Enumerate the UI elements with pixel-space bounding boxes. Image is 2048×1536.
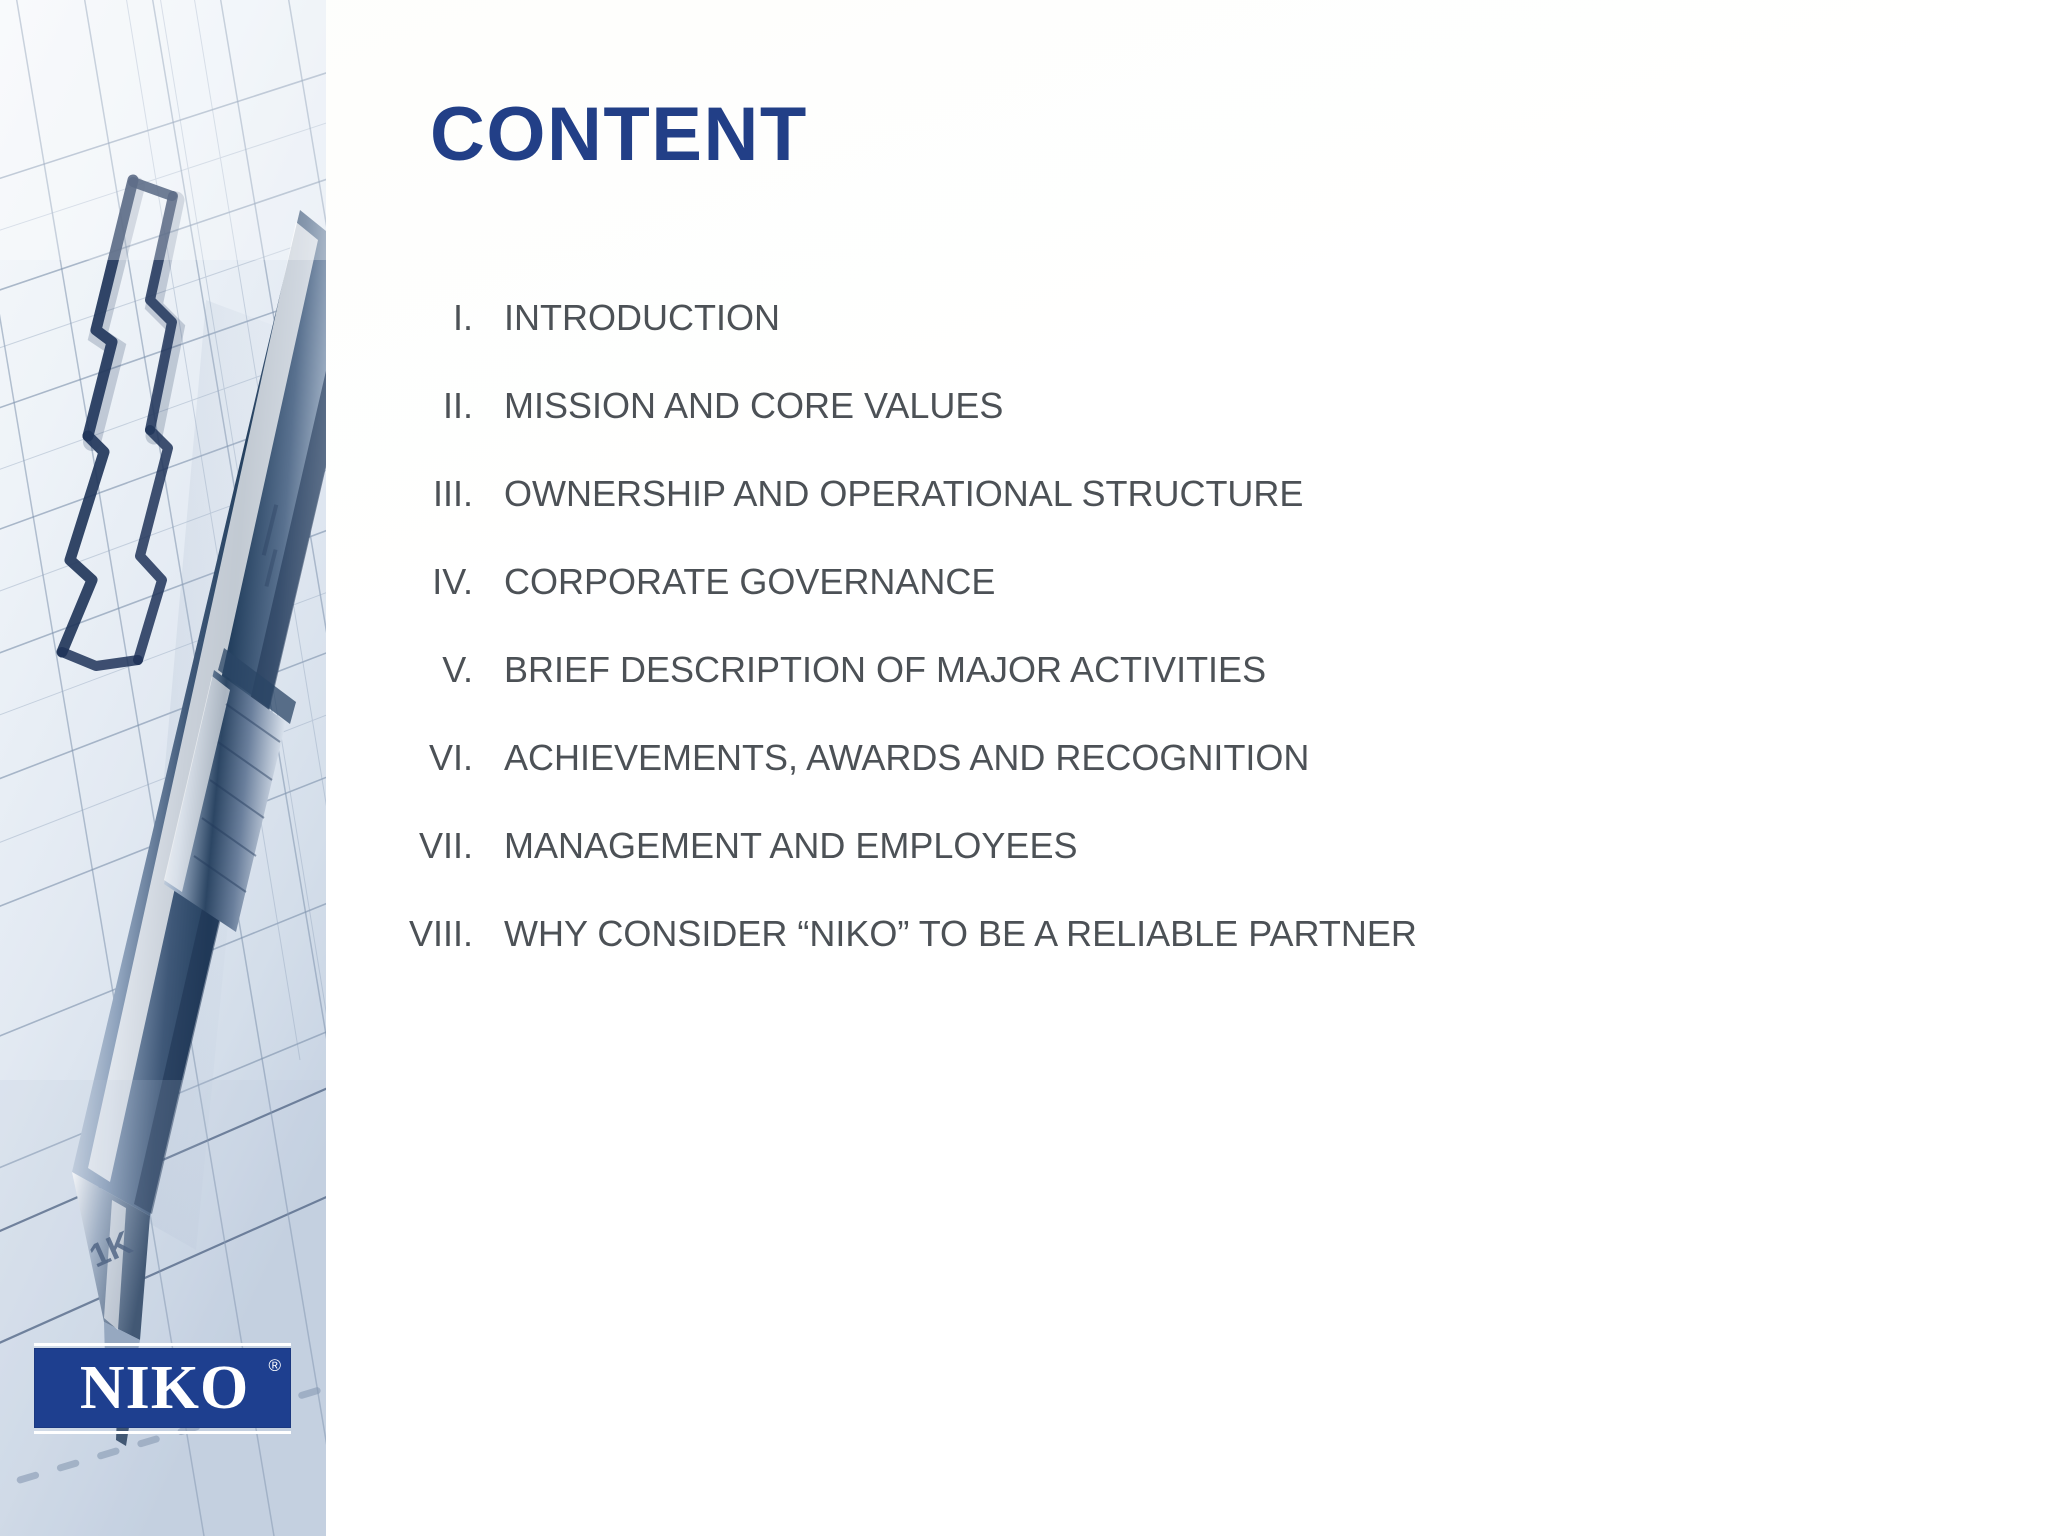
logo-rule-top bbox=[34, 1343, 291, 1346]
list-item[interactable]: II. MISSION AND CORE VALUES bbox=[408, 388, 1888, 476]
list-item[interactable]: III. OWNERSHIP AND OPERATIONAL STRUCTURE bbox=[408, 476, 1888, 564]
logo-rule-bottom bbox=[34, 1431, 291, 1434]
page-title: CONTENT bbox=[430, 97, 808, 173]
pen-on-graph-paper-photo: 1K bbox=[0, 0, 326, 1536]
decorative-photo-panel: 1K bbox=[0, 0, 326, 1536]
list-item[interactable]: I. INTRODUCTION bbox=[408, 300, 1888, 388]
presentation-slide: 1K NIKO ® CONTENT I. INTRODUCTION bbox=[0, 0, 2048, 1536]
list-item[interactable]: IV. CORPORATE GOVERNANCE bbox=[408, 564, 1888, 652]
list-item-numeral: I. bbox=[408, 300, 473, 336]
list-item-numeral: III. bbox=[408, 476, 473, 512]
list-item-label: INTRODUCTION bbox=[504, 300, 780, 336]
list-item-label: OWNERSHIP AND OPERATIONAL STRUCTURE bbox=[504, 476, 1303, 512]
list-item-label: WHY CONSIDER “NIKO” TO BE A RELIABLE PAR… bbox=[504, 916, 1417, 952]
list-item-numeral: VIII. bbox=[408, 916, 473, 952]
list-item[interactable]: V. BRIEF DESCRIPTION OF MAJOR ACTIVITIES bbox=[408, 652, 1888, 740]
list-item-label: ACHIEVEMENTS, AWARDS AND RECOGNITION bbox=[504, 740, 1309, 776]
list-item-label: BRIEF DESCRIPTION OF MAJOR ACTIVITIES bbox=[504, 652, 1266, 688]
niko-logo: NIKO ® bbox=[34, 1343, 291, 1436]
list-item-numeral: VI. bbox=[408, 740, 473, 776]
list-item-label: MANAGEMENT AND EMPLOYEES bbox=[504, 828, 1077, 864]
list-item[interactable]: VI. ACHIEVEMENTS, AWARDS AND RECOGNITION bbox=[408, 740, 1888, 828]
list-item[interactable]: VIII. WHY CONSIDER “NIKO” TO BE A RELIAB… bbox=[408, 916, 1888, 1004]
list-item-numeral: V. bbox=[408, 652, 473, 688]
list-item-label: CORPORATE GOVERNANCE bbox=[504, 564, 995, 600]
list-item-numeral: II. bbox=[408, 388, 473, 424]
list-item-numeral: VII. bbox=[408, 828, 473, 864]
logo-wordmark: NIKO bbox=[34, 1348, 291, 1428]
table-of-contents: I. INTRODUCTION II. MISSION AND CORE VAL… bbox=[408, 300, 1888, 1004]
list-item[interactable]: VII. MANAGEMENT AND EMPLOYEES bbox=[408, 828, 1888, 916]
registered-trademark-icon: ® bbox=[268, 1357, 281, 1374]
list-item-numeral: IV. bbox=[408, 564, 473, 600]
list-item-label: MISSION AND CORE VALUES bbox=[504, 388, 1003, 424]
